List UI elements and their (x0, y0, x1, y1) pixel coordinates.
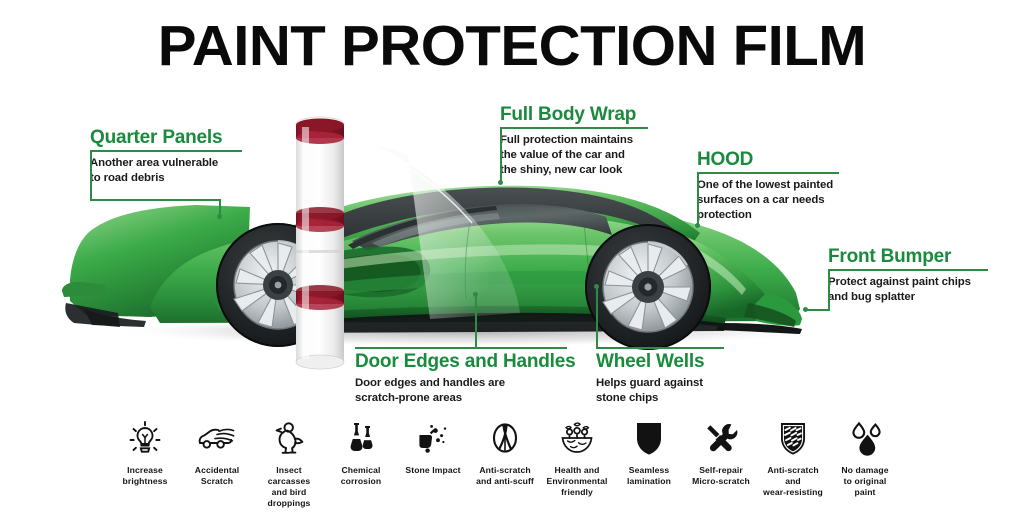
callout-rule (596, 347, 724, 349)
callout-title: HOOD (697, 150, 847, 170)
callout-title: Door Edges and Handles (355, 352, 570, 372)
callout-title: Front Bumper (828, 247, 993, 267)
callout-wheel-wells[interactable]: Wheel Wells Helps guard against stone ch… (596, 347, 746, 406)
callout-body: Full protection maintains the value of t… (500, 129, 650, 179)
water-drops-icon (819, 418, 911, 458)
callout-bracket-full-body-wrap (500, 127, 502, 183)
callout-leader-door-edges (475, 294, 477, 348)
callout-full-body-wrap[interactable]: Full Body Wrap Full protection maintains… (500, 105, 650, 179)
front-wheel (585, 224, 711, 350)
callout-rule (355, 347, 567, 349)
callout-bracket-hood (697, 172, 699, 226)
callout-body: One of the lowest painted surfaces on a … (697, 174, 847, 224)
benefit-label: No damage to original paint (819, 465, 911, 498)
callout-dot-front-bumper (803, 307, 808, 312)
callout-body: Another area vulnerable to road debris (90, 152, 255, 187)
callout-dot-full-body-wrap (498, 180, 503, 185)
callout-body: Door edges and handles are scratch-prone… (355, 372, 570, 407)
callout-bracket-quarter-panels (90, 150, 92, 200)
page-title: PAINT PROTECTION FILM (0, 18, 1024, 75)
callout-dot-hood (695, 223, 700, 228)
callout-dot-wheel-wells (594, 284, 599, 289)
benefits-icon-strip: Increase brightness Accidental (0, 418, 1024, 512)
callout-dot-quarter-panels (217, 214, 222, 219)
callout-dot-door-edges (473, 292, 478, 297)
benefit-item-no-damage-original-paint[interactable]: No damage to original paint (819, 418, 911, 498)
callout-body: Protect against paint chips and bug spla… (828, 271, 993, 306)
callout-title: Quarter Panels (90, 128, 255, 148)
callout-leader-wheel-wells (596, 286, 598, 348)
callout-body: Helps guard against stone chips (596, 372, 746, 407)
callout-leader-front-bumper (805, 309, 830, 311)
film-roll (296, 117, 344, 369)
callout-leader-quarter-panels (90, 199, 220, 201)
callout-hood[interactable]: HOOD One of the lowest painted surfaces … (697, 150, 847, 224)
callout-title: Wheel Wells (596, 352, 746, 372)
callout-quarter-panels[interactable]: Quarter Panels Another area vulnerable t… (90, 128, 255, 186)
callout-door-edges-and-handles[interactable]: Door Edges and Handles Door edges and ha… (355, 347, 570, 406)
infographic-canvas: PAINT PROTECTION FILM (0, 0, 1024, 512)
callout-front-bumper[interactable]: Front Bumper Protect against paint chips… (828, 247, 993, 305)
callout-title: Full Body Wrap (500, 105, 650, 125)
callout-bracket-front-bumper (828, 269, 830, 310)
